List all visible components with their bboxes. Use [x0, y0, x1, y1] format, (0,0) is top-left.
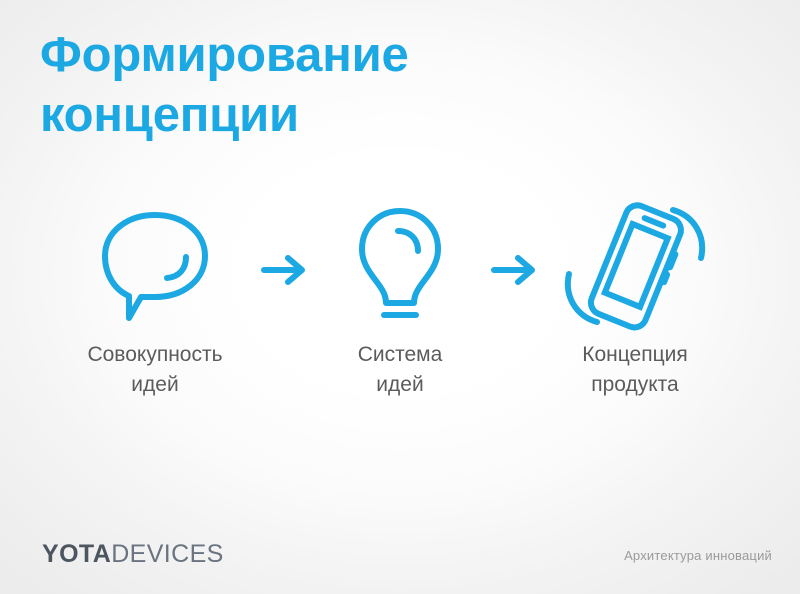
- lightbulb-icon: [290, 196, 510, 336]
- flow-step-product-concept: Концепция продукта: [525, 196, 745, 436]
- flow-step-system-of-ideas: Система идей: [290, 196, 510, 436]
- speech-bubble-icon: [45, 196, 265, 336]
- logo-yota-text: YOTA: [42, 540, 111, 568]
- slide-title-line-2: концепции: [40, 86, 600, 146]
- logo-devices-text: DEVICES: [111, 540, 224, 568]
- flow-step-label: Концепция продукта: [525, 340, 745, 401]
- flow-step-label: Система идей: [290, 340, 510, 401]
- footer-note: Архитектура инноваций: [624, 548, 772, 563]
- smartphone-icon: [525, 196, 745, 336]
- slide-title-line-1: Формирование: [40, 26, 600, 86]
- presentation-slide: Формирование концепции Совокупность идей: [0, 0, 800, 594]
- flow-step-label: Совокупность идей: [45, 340, 265, 401]
- flow-step-aggregate-of-ideas: Совокупность идей: [45, 196, 265, 436]
- concept-flow-diagram: Совокупность идей Система идей: [0, 196, 800, 436]
- yota-devices-logo: YOTADEVICES: [42, 540, 224, 569]
- slide-title: Формирование концепции: [40, 26, 600, 146]
